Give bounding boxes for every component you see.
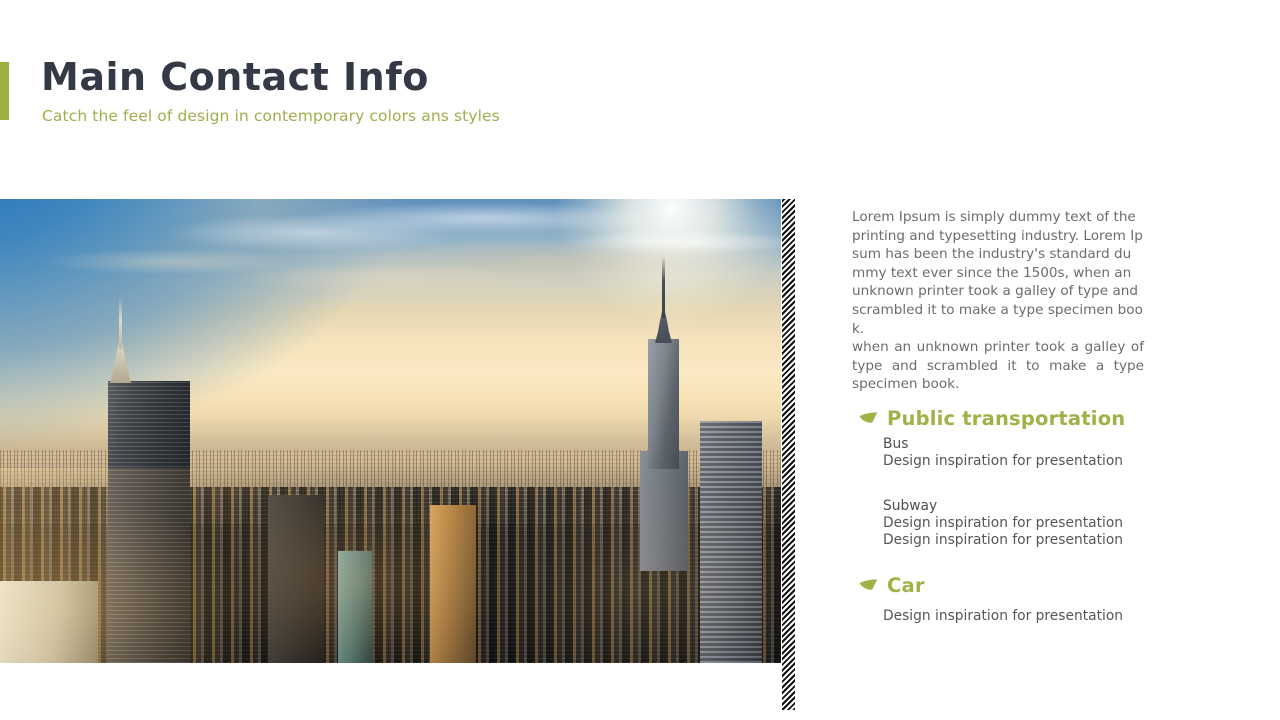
- body-paragraph-2: when an unknown printer took a galley of…: [852, 338, 1144, 394]
- page-title: Main Contact Info: [41, 57, 429, 99]
- leaf-bullet-icon: [859, 576, 878, 595]
- content-column: Lorem Ipsum is simply dummy text of the …: [852, 208, 1144, 624]
- sub-group-line: Design inspiration for presentation: [883, 608, 1144, 625]
- sub-group-subway: Subway Design inspiration for presentati…: [883, 497, 1144, 548]
- sub-group-label: Bus: [883, 435, 1144, 453]
- section-title: Car: [887, 575, 925, 596]
- cityscape-photo: [0, 199, 781, 663]
- section-title: Public transportation: [887, 408, 1125, 429]
- header-accent-bar: [0, 62, 9, 120]
- section-public-transportation: Public transportation Bus Design inspira…: [852, 408, 1144, 548]
- sub-group-label: Subway: [883, 497, 1144, 515]
- sub-group-line: Design inspiration for presentation: [883, 453, 1144, 470]
- photo-vignette: [0, 199, 781, 663]
- section-header[interactable]: Public transportation: [859, 408, 1144, 429]
- sub-group-bus: Bus Design inspiration for presentation: [883, 435, 1144, 470]
- sub-group-car: Design inspiration for presentation: [883, 608, 1144, 625]
- section-car: Car Design inspiration for presentation: [852, 575, 1144, 624]
- diagonal-hatch-strip: [782, 199, 795, 710]
- leaf-bullet-icon: [859, 409, 878, 428]
- body-paragraph-1: Lorem Ipsum is simply dummy text of the …: [852, 208, 1144, 338]
- sub-group-line: Design inspiration for presentation: [883, 515, 1144, 532]
- section-header[interactable]: Car: [859, 575, 1144, 596]
- page-subtitle: Catch the feel of design in contemporary…: [42, 107, 500, 125]
- sub-group-line: Design inspiration for presentation: [883, 532, 1144, 549]
- sub-group-spacer: [852, 470, 1144, 491]
